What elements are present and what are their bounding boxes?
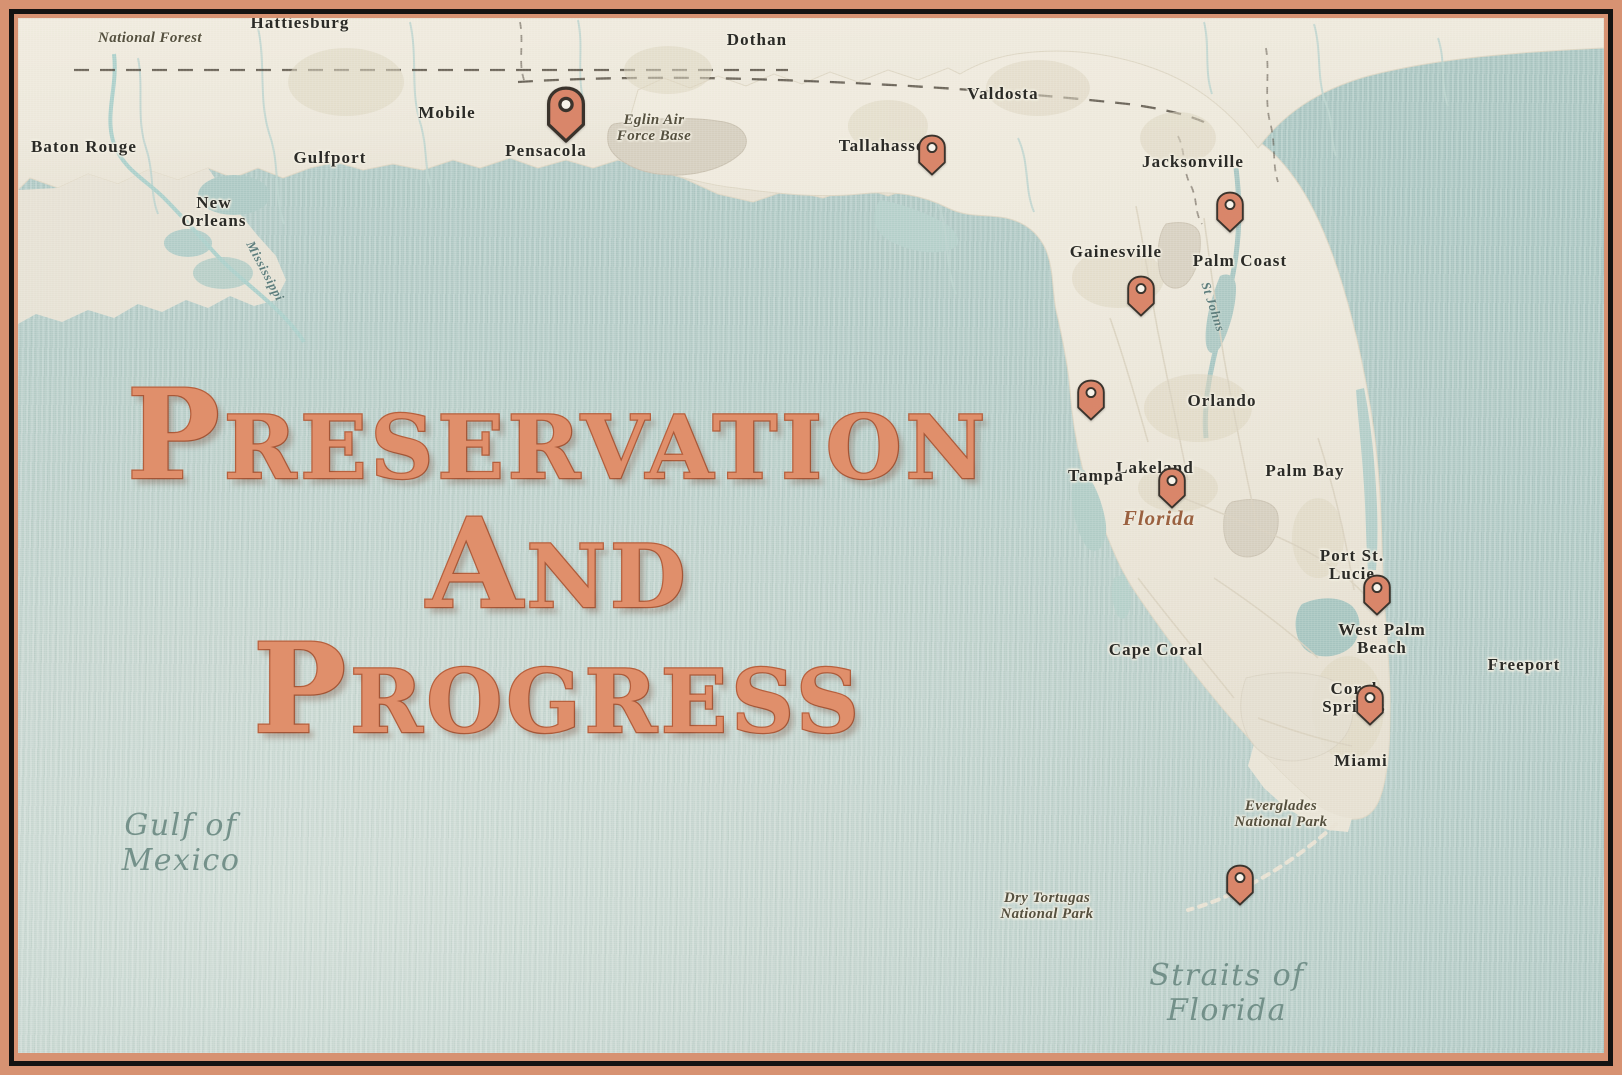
pin-coral-springs[interactable] bbox=[1355, 684, 1385, 726]
map-canvas[interactable]: National ForestHattiesburgDothanValdosta… bbox=[18, 18, 1604, 1053]
pin-port-st-lucie[interactable] bbox=[1362, 574, 1392, 616]
geography-layer bbox=[18, 18, 1604, 1053]
pin-st-augustine[interactable] bbox=[1215, 191, 1245, 233]
pin-pensacola[interactable] bbox=[546, 86, 587, 143]
bay-apalachee bbox=[874, 200, 958, 252]
map-poster: National ForestHattiesburgDothanValdosta… bbox=[0, 0, 1622, 1075]
lake-okeechobee bbox=[1296, 598, 1360, 656]
pin-lakeland[interactable] bbox=[1157, 467, 1187, 509]
land-florida-keys bbox=[1188, 824, 1336, 910]
pin-sarasota[interactable] bbox=[1076, 379, 1106, 421]
pin-tallahassee[interactable] bbox=[917, 134, 947, 176]
lake-pontchartrain bbox=[198, 175, 270, 215]
pin-gainesville[interactable] bbox=[1126, 275, 1156, 317]
pin-key-west[interactable] bbox=[1225, 864, 1255, 906]
